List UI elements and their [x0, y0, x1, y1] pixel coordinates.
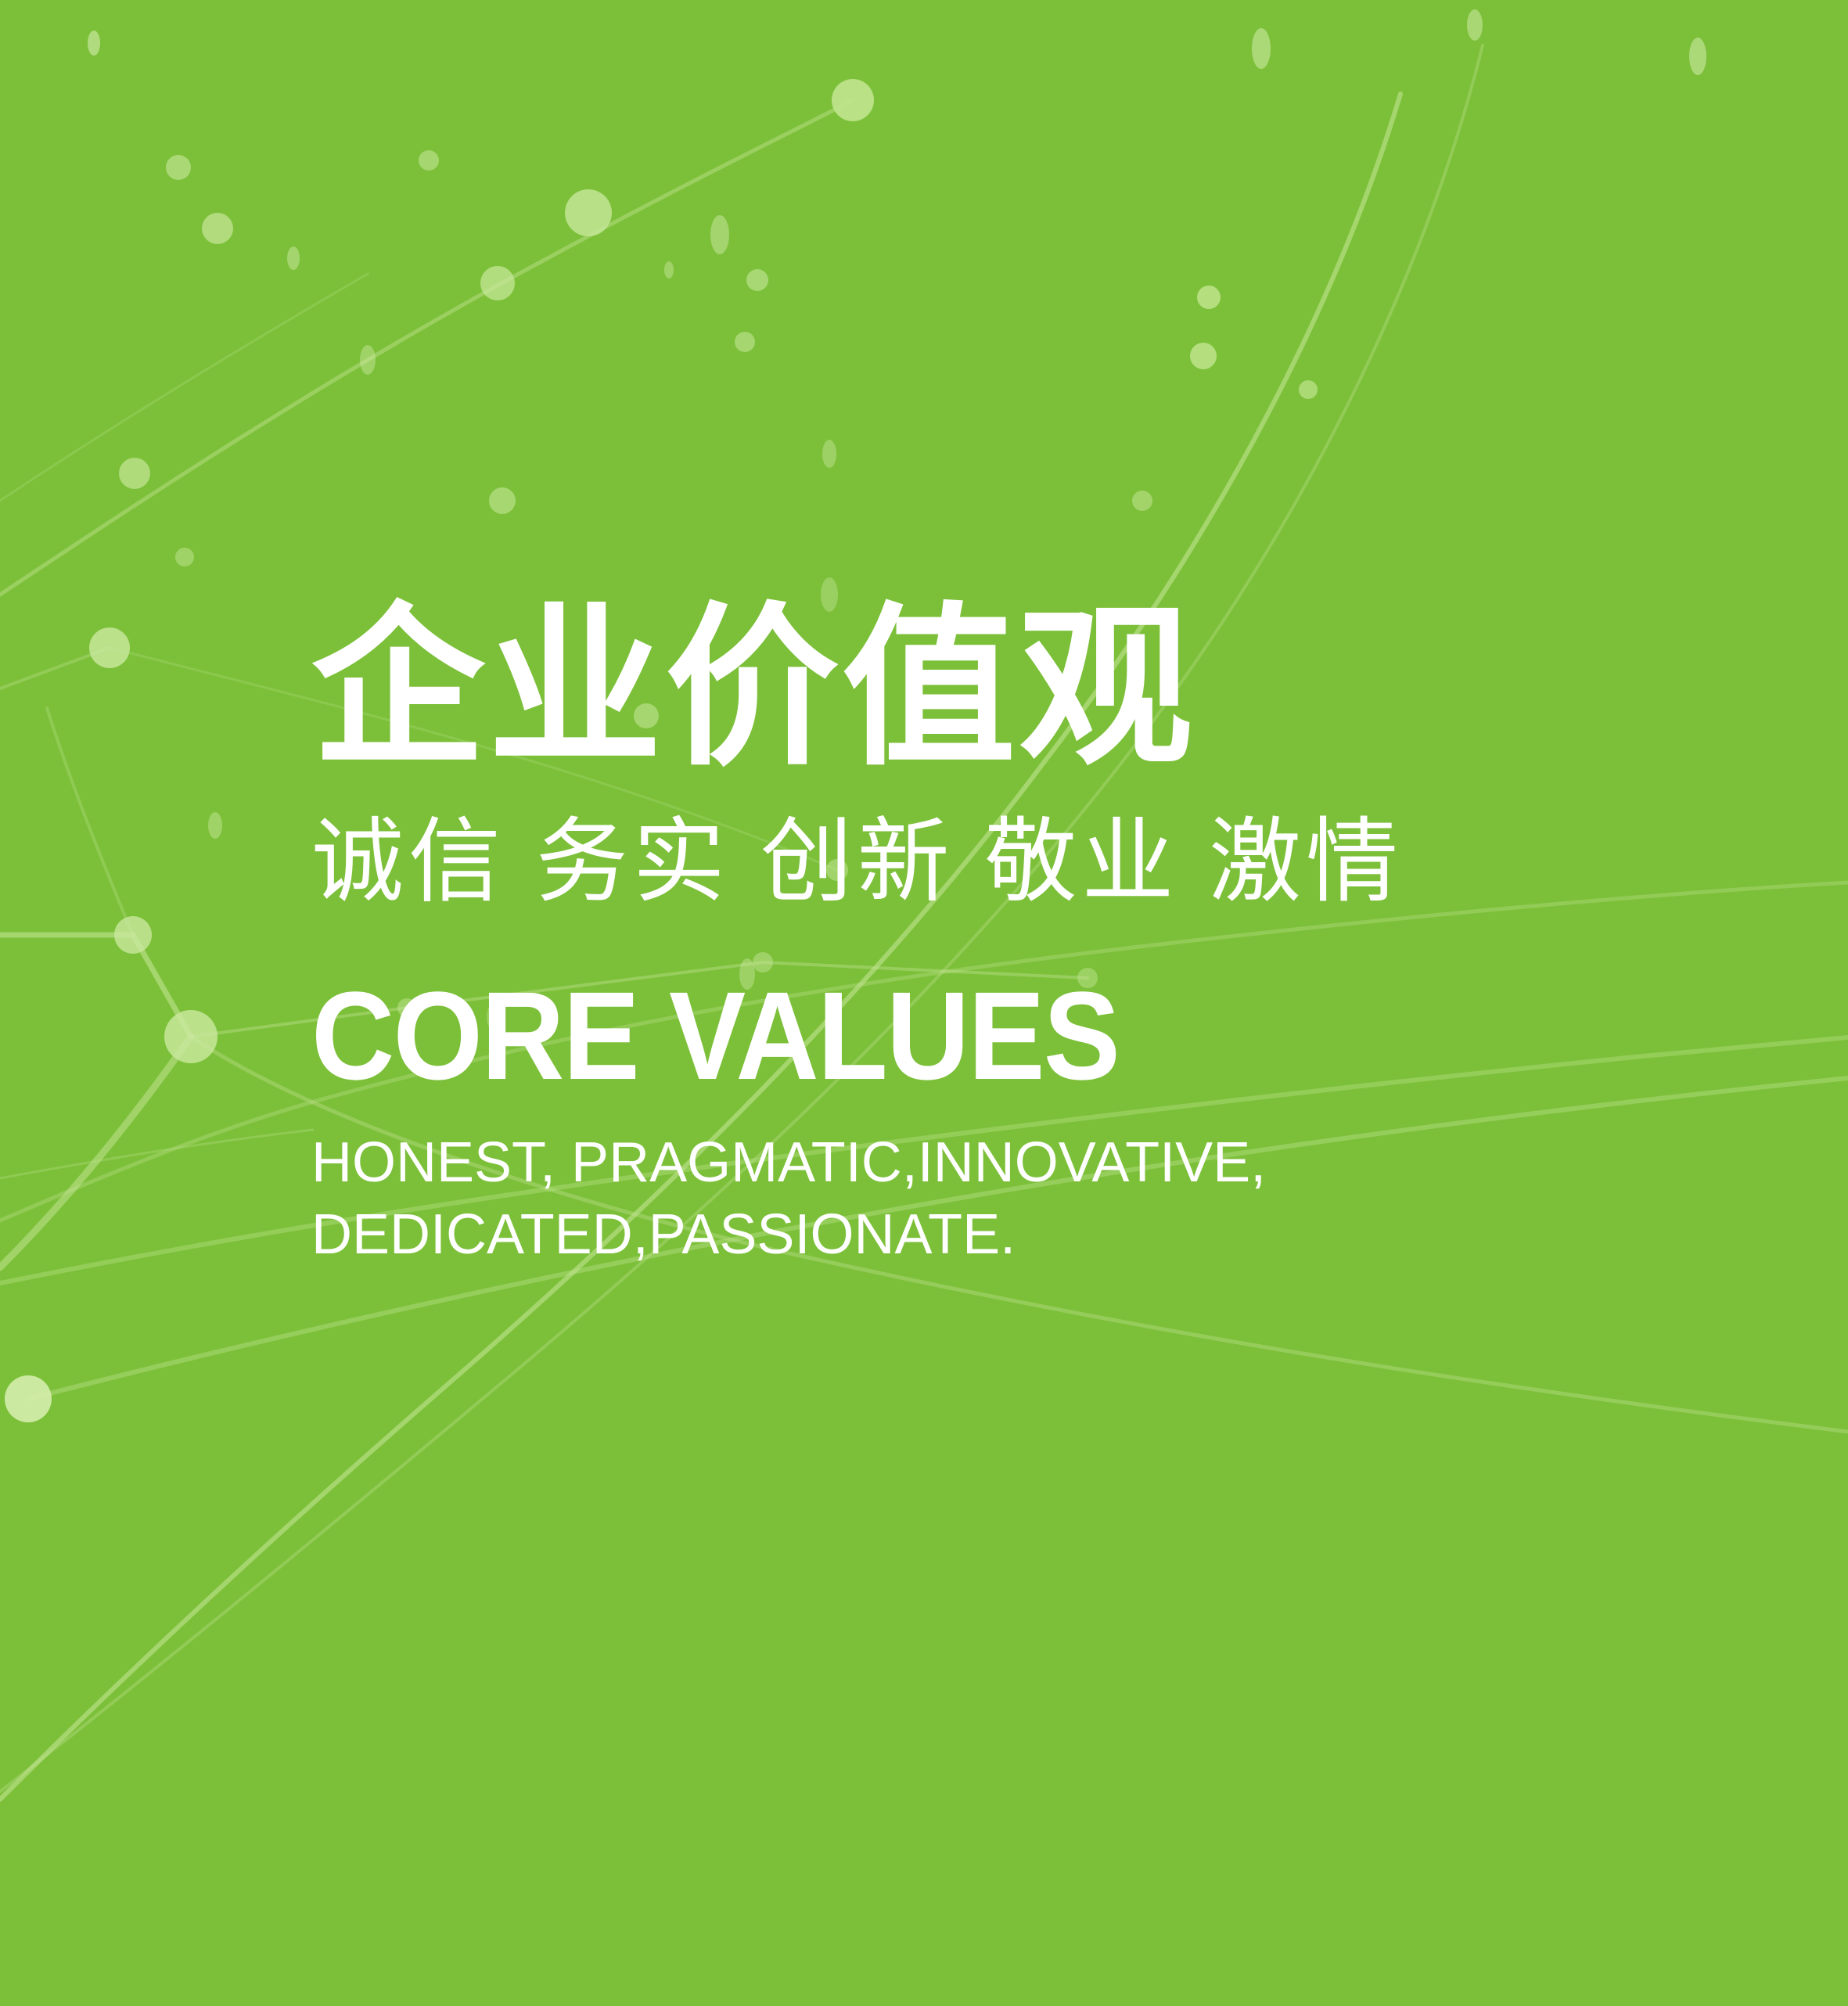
description-line-1: HONEST, PRAGMATIC,INNOVATIVE, [311, 1127, 1344, 1199]
page-title-english: CORE VALUES [311, 973, 1607, 1098]
node-dot [202, 213, 233, 244]
speck-7 [664, 261, 674, 279]
values-description-english: HONEST, PRAGMATIC,INNOVATIVE, DEDICATED,… [311, 1127, 1344, 1271]
fan-edge-1 [0, 935, 191, 1037]
node-dot [164, 1010, 218, 1063]
node-dot [480, 266, 515, 300]
page-title-chinese: 企业价值观 [311, 599, 1720, 778]
description-line-2: DEDICATED,PASSIONATE. [311, 1199, 1344, 1271]
text-content-block: 企业价值观 诚信 务实 创新 敬业 激情 CORE VALUES HONEST,… [311, 599, 1720, 1271]
core-values-poster: 企业价值观 诚信 务实 创新 敬业 激情 CORE VALUES HONEST,… [0, 0, 1848, 2006]
speck-5 [287, 246, 300, 270]
node-dot [89, 627, 130, 668]
node-dot [832, 79, 874, 121]
node-dot [166, 155, 191, 180]
node-dot [489, 487, 516, 514]
speck-8 [360, 345, 376, 375]
node-dot [1197, 286, 1221, 309]
speck-6 [710, 215, 729, 254]
speck-4 [1467, 9, 1483, 41]
speck-2 [1252, 28, 1271, 69]
node-dot [746, 269, 768, 291]
speck-9 [822, 440, 836, 468]
node-dot [114, 916, 152, 954]
fan-edge-8 [0, 1130, 313, 1178]
speck-11 [208, 812, 222, 839]
curve-upper-left [0, 100, 853, 595]
fan-edge-3 [0, 1037, 191, 1267]
node-dot [1190, 343, 1217, 369]
node-dot [1132, 491, 1152, 511]
node-dot [1299, 380, 1318, 399]
node-dot [5, 1375, 52, 1422]
curve-group-upper-left [0, 100, 853, 595]
fan-edge-10 [0, 648, 110, 688]
node-dot [735, 332, 755, 352]
curve-upper-left-thin [0, 274, 368, 501]
speck-1 [88, 31, 100, 56]
node-dot [119, 458, 150, 489]
node-dot [565, 189, 612, 236]
node-dot [175, 548, 194, 566]
fan-edge-9 [47, 708, 133, 935]
values-subtitle-chinese: 诚信 务实 创新 敬业 激情 [311, 805, 1720, 921]
node-dot [419, 150, 439, 171]
speck-3 [1689, 38, 1706, 75]
